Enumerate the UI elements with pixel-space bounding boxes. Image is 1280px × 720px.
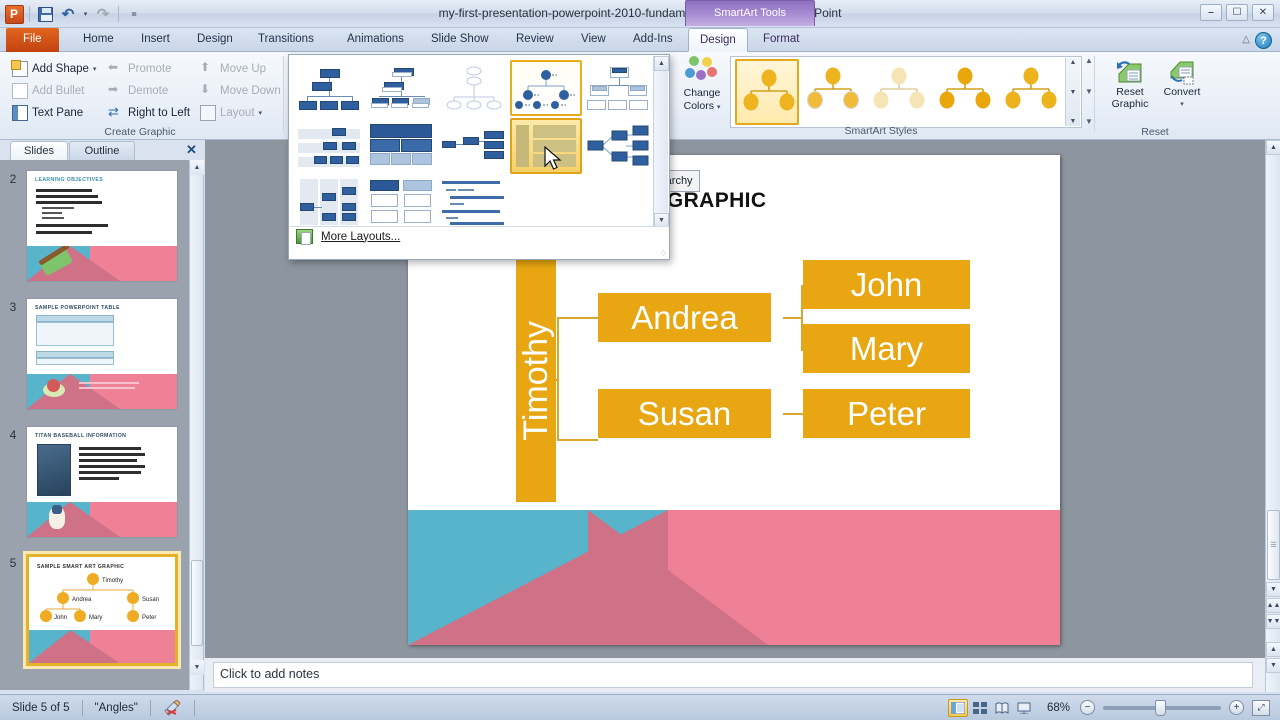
layout-option-3[interactable] <box>510 60 582 116</box>
hierarchy-list-icon <box>370 123 434 169</box>
tab-outline[interactable]: Outline <box>69 141 135 160</box>
name-title-org-chart-icon <box>370 65 434 111</box>
smartart-graphic[interactable]: Timothy Andrea Susan John Mary Peter <box>408 251 1060 506</box>
layout-option-6[interactable] <box>366 118 438 174</box>
thumbnail-number: 3 <box>0 298 26 410</box>
slides-pane-scrollbar[interactable]: ▲ ▼ <box>189 160 203 690</box>
promote-arrow-icon: ⬅ <box>108 61 124 77</box>
window-controls[interactable]: ⎯ ☐ ✕ <box>1200 4 1274 21</box>
styles-scroll-up-icon[interactable]: ▲ <box>1070 59 1077 66</box>
layout-option-5[interactable] <box>294 118 366 174</box>
tab-slide-show[interactable]: Slide Show <box>420 28 500 52</box>
tab-slides[interactable]: Slides <box>10 141 68 160</box>
convert-label: Convert▾ <box>1164 87 1201 110</box>
ribbon-group-create-graphic: Add Shape ▾ Add Bullet Text Pane ⬅ Promo… <box>0 52 284 140</box>
status-bar: Slide 5 of 5 "Angles" 68% − + ⤢ <box>0 694 1280 720</box>
thumbnail-number: 4 <box>0 426 26 538</box>
horizontal-hierarchy-icon <box>514 65 578 111</box>
smartart-node-peter[interactable]: Peter <box>803 389 970 438</box>
create-graphic-group-label: Create Graphic <box>60 126 220 138</box>
smartart-node-john[interactable]: John <box>803 260 970 309</box>
slides-scroll-up-icon[interactable]: ▲ <box>190 160 204 175</box>
org-chart-icon <box>298 65 362 111</box>
tab-transitions[interactable]: Transitions <box>247 28 325 52</box>
svg-text:Andrea: Andrea <box>72 597 92 603</box>
right-to-left-button[interactable]: ⇄ Right to Left <box>104 102 194 124</box>
hierarchy-columns-icon <box>298 179 362 225</box>
move-up-label: Move Up <box>220 63 266 75</box>
convert-icon <box>1167 58 1197 86</box>
demote-label: Demote <box>128 85 168 97</box>
svg-text:Peter: Peter <box>142 615 156 621</box>
help-icon[interactable]: ? <box>1255 32 1272 49</box>
thumbnail-photo <box>37 444 71 496</box>
restore-button[interactable]: ☐ <box>1226 4 1248 21</box>
change-colors-label-2: Colors ▾ <box>684 101 721 113</box>
tab-home[interactable]: Home <box>72 28 125 52</box>
connector-to-andrea <box>557 317 598 319</box>
thumbnail-number: 2 <box>0 170 26 282</box>
layout-chevron-down-icon[interactable]: ▾ <box>259 109 263 117</box>
title-bar: P ↶ ▾ ↷ ≣ my-first-presentation-powerpoi… <box>0 0 1280 28</box>
layout-option-12[interactable] <box>438 174 510 230</box>
slide-counter[interactable]: Slide 5 of 5 <box>0 695 82 720</box>
view-and-zoom-controls[interactable]: 68% − + ⤢ <box>947 695 1280 720</box>
style-preview-icon <box>999 59 1063 121</box>
group-divider-1 <box>283 56 284 132</box>
convert-button[interactable]: Convert▾ <box>1156 58 1208 110</box>
more-layouts-label[interactable]: More Layouts... <box>321 231 400 243</box>
slides-pane-tabs[interactable]: Slides Outline ✕ <box>0 140 204 160</box>
layout-button[interactable]: Layout ▾ <box>196 102 285 124</box>
slides-scroll-down-icon[interactable]: ▼ <box>190 660 204 675</box>
layout-option-2[interactable] <box>438 60 510 116</box>
list-item[interactable]: 4 TITAN BASEBALL INFORMATION <box>0 426 190 538</box>
style-preview-icon <box>867 59 931 121</box>
slide-thumbnail-4[interactable]: TITAN BASEBALL INFORMATION <box>26 426 178 538</box>
pane-scroll-up-icon[interactable]: ▲ <box>1266 642 1280 657</box>
move-down-label: Move Down <box>220 85 281 97</box>
styles-scroll-down-icon[interactable]: ▼ <box>1070 89 1077 96</box>
spellcheck-icon[interactable] <box>151 695 194 720</box>
slide-thumbnail-2[interactable]: LEARNING OBJECTIVES <box>26 170 178 282</box>
smartart-styles-group-label: SmartArt Styles <box>676 125 1086 137</box>
thumbnail-title: LEARNING OBJECTIVES <box>35 177 103 183</box>
ribbon-tab-strip[interactable]: File Home Insert Design Transitions Anim… <box>0 28 1280 52</box>
promote-label: Promote <box>128 63 171 75</box>
redo-icon[interactable]: ↷ <box>93 4 113 24</box>
layout-option-0[interactable] <box>294 60 366 116</box>
connector-root-vertical <box>557 317 559 441</box>
tab-smartart-design[interactable]: Design <box>688 28 748 52</box>
normal-view-button[interactable] <box>948 699 968 717</box>
reset-graphic-button[interactable]: Reset Graphic <box>1104 58 1156 110</box>
undo-dropdown-icon[interactable]: ▾ <box>81 4 90 24</box>
main-scroll-thumb[interactable]: ☰ <box>1267 510 1280 580</box>
tab-smartart-format[interactable]: Format <box>752 28 810 52</box>
thumbnail-title: SAMPLE POWERPOINT TABLE <box>35 305 120 311</box>
change-colors-label-1: Change <box>684 88 721 99</box>
horizontal-hierarchy-boxes-icon <box>442 123 506 169</box>
zoom-slider[interactable] <box>1103 706 1221 710</box>
reading-view-button[interactable] <box>992 699 1012 717</box>
notes-pane[interactable]: Click to add notes <box>205 658 1265 692</box>
right-to-left-icon: ⇄ <box>108 105 124 121</box>
status-divider-3 <box>194 700 195 716</box>
add-shape-label: Add Shape <box>32 63 89 75</box>
slideshow-view-button[interactable] <box>1014 699 1034 717</box>
thumbnail-theme-band <box>27 502 177 537</box>
reset-graphic-label-1: Reset <box>1116 87 1143 98</box>
layout-label: Layout <box>220 107 255 119</box>
qat-divider-2 <box>118 6 119 22</box>
add-bullet-label: Add Bullet <box>32 85 84 97</box>
demote-button[interactable]: ➡ Demote <box>104 80 194 102</box>
next-slide-button[interactable]: ▼▼ <box>1266 614 1280 629</box>
add-shape-button[interactable]: Add Shape ▾ <box>8 58 100 80</box>
styles-gallery-scrollbar[interactable]: ▲ ▼ ▼ <box>1065 58 1080 126</box>
slide-thumbnail-3[interactable]: SAMPLE POWERPOINT TABLE <box>26 298 178 410</box>
lined-list-hierarchy-icon <box>442 179 506 225</box>
add-shape-icon <box>12 61 28 77</box>
thumbnail-title: SAMPLE SMART ART GRAPHIC <box>37 564 124 570</box>
dark-pink-shape-2 <box>588 510 768 645</box>
slide-thumbnail-5[interactable]: SAMPLE SMART ART GRAPHIC Timothy Andrea … <box>26 554 178 666</box>
svg-text:Susan: Susan <box>142 597 159 603</box>
quick-access-toolbar[interactable]: P ↶ ▾ ↷ ≣ <box>4 4 144 24</box>
thumbnail-smartart: Timothy Andrea Susan John Mary Peter <box>33 571 177 623</box>
close-button[interactable]: ✕ <box>1252 4 1274 21</box>
smartart-node-susan[interactable]: Susan <box>598 389 771 438</box>
more-layouts-icon <box>296 229 313 244</box>
layouts-gallery-scrollbar[interactable]: ▲ ▼ <box>653 56 668 228</box>
thumbnail-theme-band <box>29 630 175 663</box>
tab-file[interactable]: File <box>6 28 59 52</box>
notes-input[interactable]: Click to add notes <box>213 662 1253 688</box>
style-preview-icon <box>933 59 997 121</box>
smartart-tools-banner: SmartArt Tools <box>685 0 815 26</box>
smartart-style-4[interactable] <box>999 59 1063 125</box>
layout-option-1[interactable] <box>366 60 438 116</box>
smartart-style-0[interactable] <box>735 59 799 125</box>
smartart-style-2[interactable] <box>867 59 931 125</box>
thumbnail-theme-band <box>27 374 177 409</box>
move-down-button[interactable]: ⬇ Move Down <box>196 80 285 102</box>
slide-sorter-view-button[interactable] <box>970 699 990 717</box>
thumbnail-number: 5 <box>0 554 26 666</box>
smartart-node-timothy[interactable]: Timothy <box>516 259 556 502</box>
svg-text:Timothy: Timothy <box>102 578 123 584</box>
more-layouts-row[interactable]: More Layouts... <box>290 226 669 246</box>
text-pane-button[interactable]: Text Pane <box>8 102 100 124</box>
layout-option-9[interactable] <box>582 118 654 174</box>
zoom-in-button[interactable]: + <box>1229 700 1244 715</box>
ribbon-group-reset: Reset Graphic Convert▾ Reset <box>1100 52 1210 140</box>
change-colors-button[interactable]: Change Colors ▾ <box>676 56 728 128</box>
move-up-arrow-icon: ⬆ <box>200 61 216 77</box>
svg-text:John: John <box>54 615 67 621</box>
main-scroll-down-icon[interactable]: ▼ <box>1266 582 1280 597</box>
window-title: my-first-presentation-powerpoint-2010-fu… <box>0 0 1280 26</box>
theme-name[interactable]: "Angles" <box>83 695 150 720</box>
labeled-hierarchy-icon <box>370 179 434 225</box>
layout-option-10[interactable] <box>294 174 366 230</box>
tab-animations[interactable]: Animations <box>336 28 415 52</box>
powerpoint-logo-icon[interactable]: P <box>4 4 24 24</box>
hierarchy-branch-icon <box>586 123 650 169</box>
layout-icon <box>200 105 216 121</box>
smartart-style-3[interactable] <box>933 59 997 125</box>
add-bullet-icon <box>12 83 28 99</box>
text-pane-icon <box>12 105 28 121</box>
tab-design[interactable]: Design <box>186 28 244 52</box>
table-hierarchy-banded-icon <box>298 123 362 169</box>
ribbon-scroll-more-icon[interactable]: ▼ <box>1085 117 1093 126</box>
connector-to-susan <box>557 439 598 441</box>
reset-graphic-icon <box>1115 58 1145 86</box>
smartart-styles-gallery[interactable]: ▲ ▼ ▼ <box>730 56 1082 128</box>
slide-theme-decoration <box>408 510 1060 645</box>
slides-pane: Slides Outline ✕ 2 LEARNING OBJECTIVES <box>0 140 204 690</box>
list-item[interactable]: 3 SAMPLE POWERPOINT TABLE <box>0 298 190 410</box>
collapse-ribbon-icon[interactable]: △ <box>1242 34 1250 45</box>
smartart-node-mary[interactable]: Mary <box>803 324 970 373</box>
move-up-button[interactable]: ⬆ Move Up <box>196 58 285 80</box>
resize-grip-icon[interactable]: ♢ <box>660 249 667 258</box>
list-item[interactable]: 5 SAMPLE SMART ART GRAPHIC Timothy Andre… <box>0 554 190 666</box>
thumbnail-title: TITAN BASEBALL INFORMATION <box>35 433 126 439</box>
close-pane-icon[interactable]: ✕ <box>184 142 199 157</box>
tab-add-ins[interactable]: Add-Ins <box>622 28 684 52</box>
main-vertical-scrollbar[interactable]: ▲ ☰ ▼ ▲▲ ▼▼ ▲ ▼ <box>1265 140 1280 692</box>
reset-graphic-label-2: Graphic <box>1112 99 1149 110</box>
layouts-scroll-up-icon[interactable]: ▲ <box>654 56 669 71</box>
change-colors-icon <box>685 56 719 86</box>
smartart-layouts-dropdown[interactable]: ▲ ▼ More Layouts... ♢ <box>288 54 670 260</box>
zoom-slider-handle[interactable] <box>1155 700 1166 716</box>
layout-option-7[interactable] <box>438 118 510 174</box>
style-preview-icon <box>737 61 801 123</box>
tab-insert[interactable]: Insert <box>130 28 181 52</box>
list-item[interactable]: 2 LEARNING OBJECTIVES <box>0 170 190 282</box>
layout-option-8[interactable] <box>510 118 582 174</box>
picture-org-chart-icon <box>586 65 650 111</box>
slide-thumbnail-list[interactable]: 2 LEARNING OBJECTIVES <box>0 160 190 690</box>
zoom-out-button[interactable]: − <box>1080 700 1095 715</box>
connector-andrea-out <box>783 317 801 319</box>
slides-scroll-thumb[interactable] <box>191 560 203 646</box>
ribbon-gallery-scroller[interactable]: ▲ ▼ ▼ <box>1082 56 1096 126</box>
tab-view[interactable]: View <box>570 28 617 52</box>
add-bullet-button[interactable]: Add Bullet <box>8 80 100 102</box>
table-hierarchy-icon <box>514 123 578 169</box>
layout-option-11[interactable] <box>366 174 438 230</box>
tab-review[interactable]: Review <box>505 28 565 52</box>
fit-slide-to-window-button[interactable]: ⤢ <box>1252 700 1270 716</box>
main-scroll-up-icon[interactable]: ▲ <box>1266 140 1280 155</box>
smartart-node-andrea[interactable]: Andrea <box>598 293 771 342</box>
chevron-down-icon[interactable]: ▾ <box>93 65 97 73</box>
styles-more-icon[interactable]: ▼ <box>1070 118 1077 125</box>
ribbon-scroll-down-icon[interactable]: ▼ <box>1085 87 1093 96</box>
layouts-grid[interactable] <box>290 56 654 228</box>
promote-button[interactable]: ⬅ Promote <box>104 58 194 80</box>
style-preview-icon <box>801 59 865 121</box>
circle-picture-hierarchy-icon <box>442 65 506 111</box>
customize-qat-icon[interactable]: ≣ <box>124 4 144 24</box>
demote-arrow-icon: ➡ <box>108 83 124 99</box>
layout-option-4[interactable] <box>582 60 654 116</box>
pane-scroll-down-icon[interactable]: ▼ <box>1266 658 1280 673</box>
reset-group-label: Reset <box>1100 126 1210 138</box>
ribbon-scroll-up-icon[interactable]: ▲ <box>1085 56 1093 65</box>
thumbnail-theme-band <box>27 246 177 281</box>
right-to-left-label: Right to Left <box>128 107 190 119</box>
undo-icon[interactable]: ↶ <box>58 4 78 24</box>
previous-slide-button[interactable]: ▲▲ <box>1266 598 1280 613</box>
save-icon[interactable] <box>35 4 55 24</box>
svg-text:Mary: Mary <box>89 615 102 621</box>
text-pane-label: Text Pane <box>32 107 83 119</box>
smartart-style-1[interactable] <box>801 59 865 125</box>
qat-divider <box>29 6 30 22</box>
minimize-button[interactable]: ⎯ <box>1200 4 1222 21</box>
zoom-level[interactable]: 68% <box>1035 695 1080 720</box>
move-down-arrow-icon: ⬇ <box>200 83 216 99</box>
